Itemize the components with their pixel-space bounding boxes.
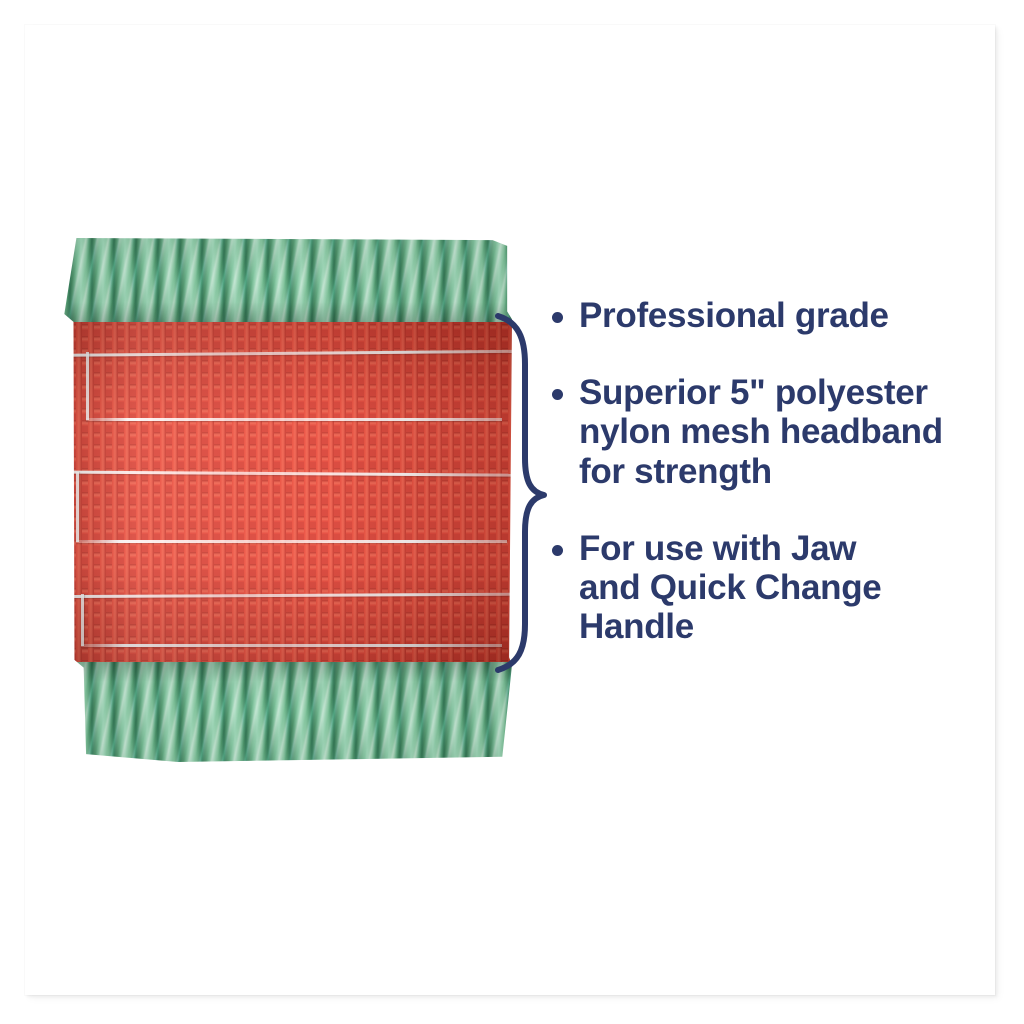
- mop-head-image: [28, 238, 512, 762]
- feature-list: Professional grade Superior 5" polyester…: [552, 296, 992, 646]
- stitch-line-vertical: [81, 594, 84, 646]
- feature-label: For use with Jaw and Quick Change Handle: [579, 529, 992, 647]
- feature-label: Professional grade: [579, 296, 992, 335]
- stitch-line: [28, 350, 512, 357]
- bullet-point-icon: [552, 389, 563, 400]
- stitch-line: [28, 593, 512, 599]
- bullet-point-icon: [552, 545, 563, 556]
- list-item: Professional grade: [552, 296, 992, 335]
- curly-brace-icon: [492, 312, 552, 674]
- stitch-line-vertical: [86, 352, 89, 420]
- stitch-line: [76, 540, 507, 543]
- list-item: Superior 5" polyester nylon mesh headban…: [552, 373, 992, 491]
- stitch-line: [81, 644, 502, 647]
- stitch-line: [86, 418, 502, 421]
- product-infographic: Professional grade Superior 5" polyester…: [0, 0, 1024, 1024]
- mesh-headband: [28, 322, 512, 666]
- stitch-line-vertical: [76, 472, 79, 542]
- yarn-strands-upper: [28, 238, 512, 324]
- bullet-point-icon: [552, 312, 563, 323]
- stitch-line: [28, 470, 512, 476]
- yarn-strands-lower: [28, 662, 512, 762]
- list-item: For use with Jaw and Quick Change Handle: [552, 529, 992, 647]
- feature-label: Superior 5" polyester nylon mesh headban…: [579, 373, 992, 491]
- product-photo: [28, 238, 512, 762]
